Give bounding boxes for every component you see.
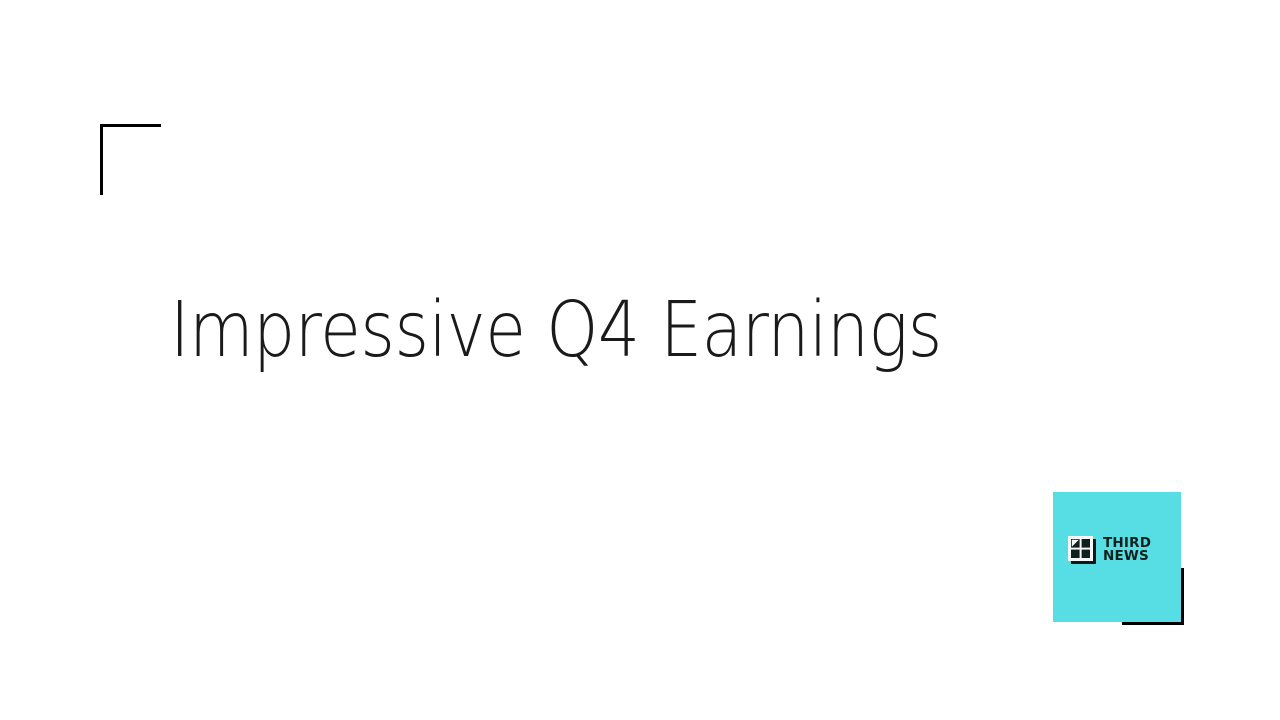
- corner-bracket-decoration: [100, 124, 161, 195]
- logo-plate: THIRD NEWS: [1053, 492, 1181, 622]
- logo-wordmark-line-2: NEWS: [1103, 550, 1151, 564]
- logo-wordmark: THIRD NEWS: [1103, 537, 1151, 564]
- title-block: Impressive Q4 Earnings: [170, 288, 1090, 374]
- logo-lockup: THIRD NEWS: [1067, 535, 1151, 565]
- newspaper-window-icon: [1067, 535, 1097, 565]
- presentation-slide: Impressive Q4 Earnings: [0, 0, 1280, 720]
- page-title: Impressive Q4 Earnings: [170, 288, 961, 374]
- logo-badge: THIRD NEWS: [1053, 492, 1181, 622]
